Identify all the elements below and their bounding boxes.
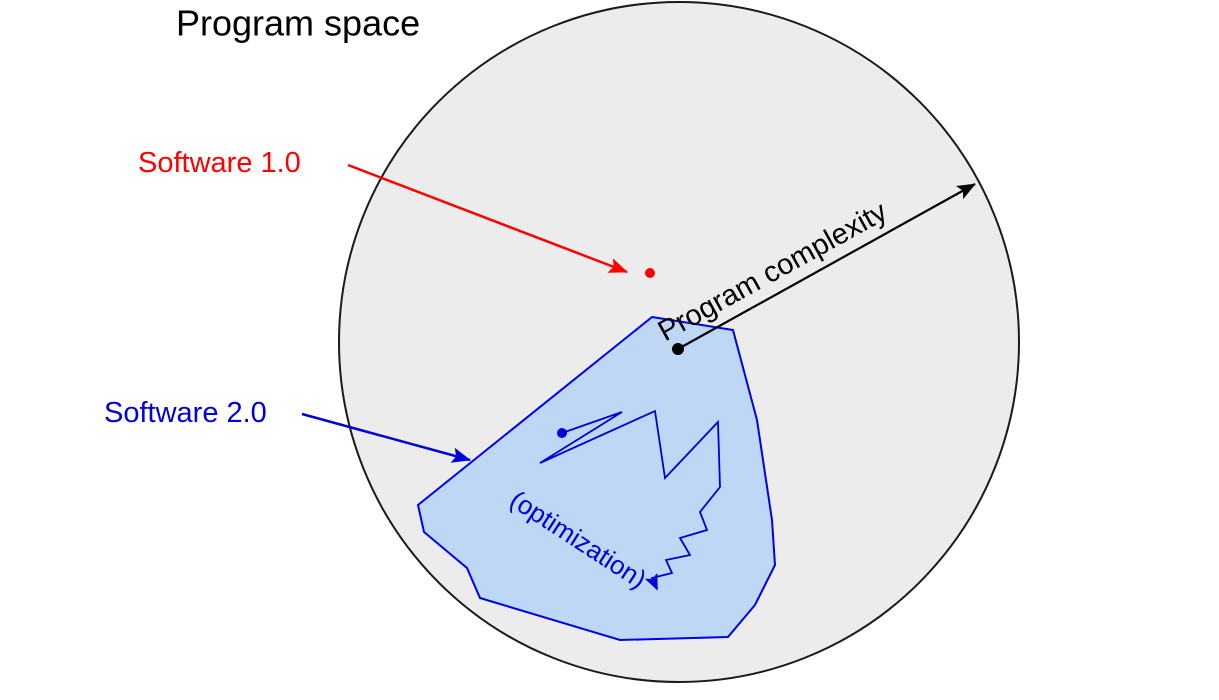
software-1-0-label: Software 1.0 — [138, 147, 301, 179]
diagram-canvas: Program space Software 1.0 Software 2.0 … — [0, 0, 1219, 700]
software-2-0-label: Software 2.0 — [104, 397, 267, 429]
page-title: Program space — [176, 3, 420, 44]
software-1-0-point — [645, 268, 655, 278]
optimization-start-point — [557, 428, 567, 438]
program-space-diagram: Program space Software 1.0 Software 2.0 … — [0, 0, 1219, 700]
